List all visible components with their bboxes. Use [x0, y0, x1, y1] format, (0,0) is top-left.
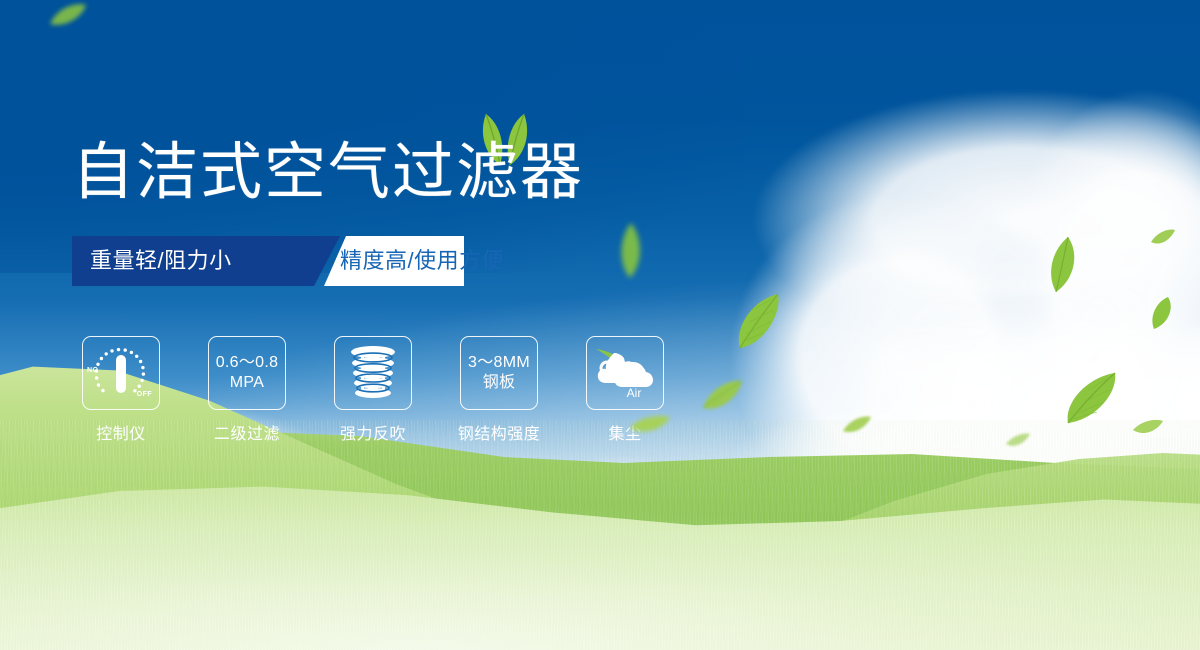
tagline-left-text: 重量轻/阻力小 [90, 236, 232, 286]
feature-box-blowback [334, 336, 412, 410]
feature-box-dust: Air [586, 336, 664, 410]
gauge-dial-icon: NO OFF [86, 341, 156, 405]
feature-label-steel-strength: 钢结构强度 [440, 420, 558, 444]
tagline-badge: 重量轻/阻力小 精度高/使用方便 [72, 236, 464, 286]
gauge-max-label: OFF [137, 391, 152, 398]
feature-item-secondary-filtration[interactable]: 0.6～0.8 MPA 二级过滤 [208, 336, 286, 444]
feature-item-controller[interactable]: NO OFF 控制仪 [82, 336, 160, 444]
gauge-min-label: NO [87, 367, 98, 374]
feature-label-secondary-filtration: 二级过滤 [208, 420, 286, 444]
steel-thickness-text-icon: 3～8MM 钢板 [468, 353, 530, 393]
feature-item-pulse-blowback[interactable]: 强力反吹 [334, 336, 412, 444]
pressure-value: 0.6～0.8 [216, 353, 279, 373]
pressure-unit: MPA [216, 373, 279, 393]
cloud-air-icon: Air [594, 343, 656, 399]
promo-banner: 自洁式空气过滤器 重量轻/阻力小 精度高/使用方便 [0, 0, 1200, 650]
page-title: 自洁式空气过滤器 [72, 142, 584, 204]
banner-content: 自洁式空气过滤器 重量轻/阻力小 精度高/使用方便 [0, 0, 1200, 650]
feature-item-steel-strength[interactable]: 3～8MM 钢板 钢结构强度 [460, 336, 538, 444]
feature-box-controller: NO OFF [82, 336, 160, 410]
feature-box-pressure: 0.6～0.8 MPA [208, 336, 286, 410]
tagline-right-text: 精度高/使用方便 [340, 236, 504, 286]
gauge-pointer-bar [116, 355, 126, 393]
pressure-text-icon: 0.6～0.8 MPA [216, 353, 279, 393]
steel-plate-label: 钢板 [468, 373, 530, 393]
stacked-discs-icon [347, 344, 399, 402]
steel-thickness-value: 3～8MM [468, 353, 530, 373]
feature-label-controller: 控制仪 [82, 420, 160, 444]
feature-label-pulse-blowback: 强力反吹 [334, 420, 412, 444]
leaf-over-dust-label [628, 414, 672, 436]
feature-box-steel: 3～8MM 钢板 [460, 336, 538, 410]
air-label: Air [627, 386, 642, 399]
